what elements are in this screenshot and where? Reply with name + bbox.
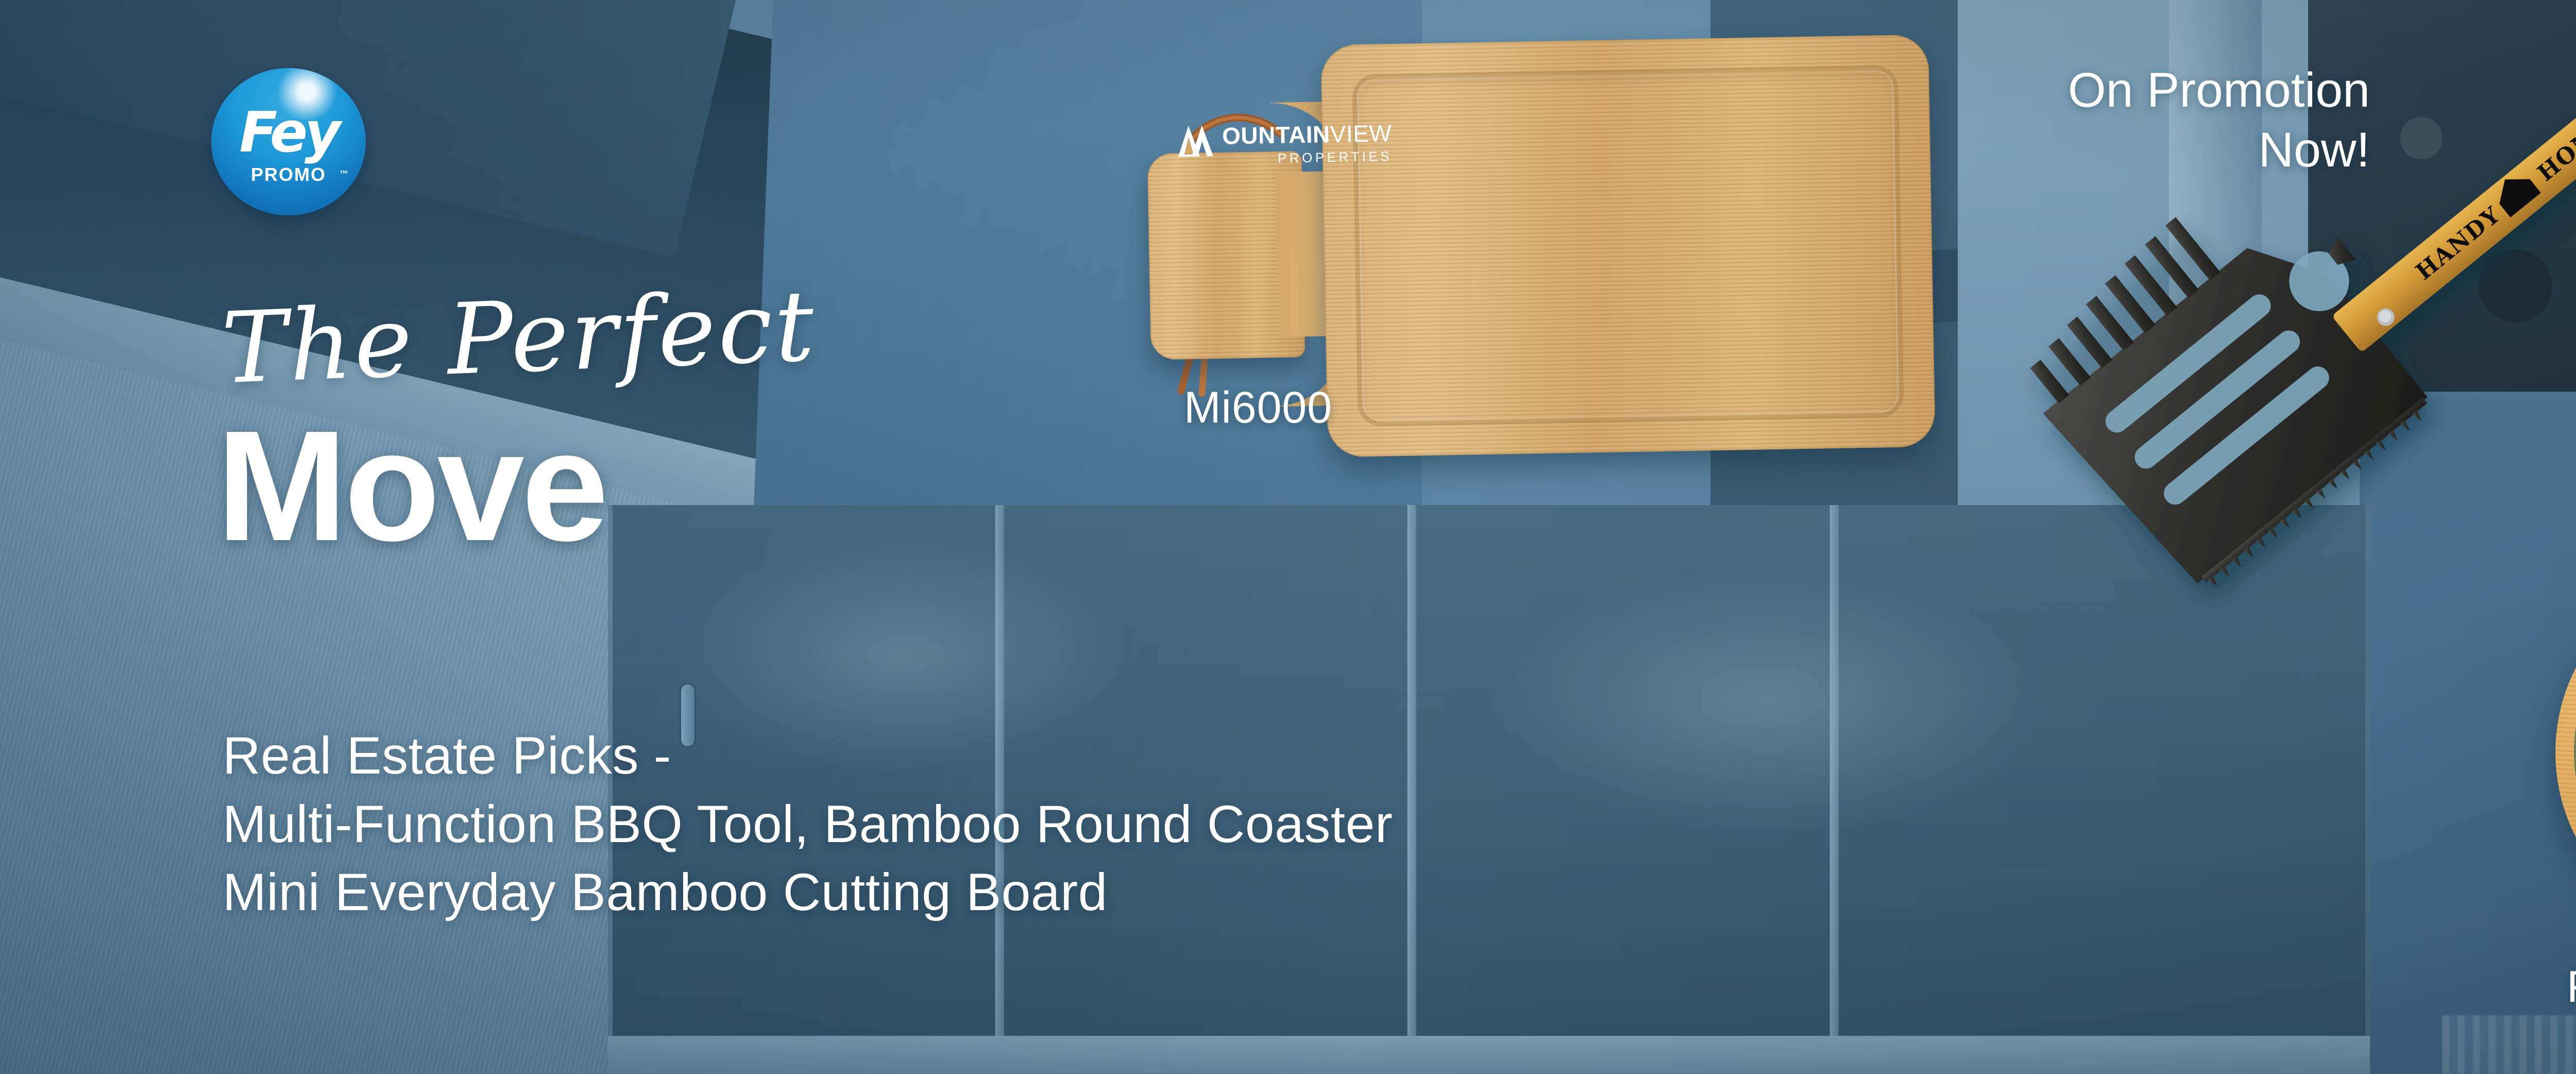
product-code-cutting-board: Mi6000 <box>1184 382 1332 433</box>
subheadline-line-2: Multi-Function BBQ Tool, Bamboo Round Co… <box>223 790 1393 859</box>
mountainview-tagline: PROPERTIES <box>1223 149 1393 166</box>
headline-main: Move <box>216 407 606 564</box>
mountainview-text: OUNTAINVIEW PROPERTIES <box>1222 121 1393 166</box>
promotional-banner: Fey PROMO ™ The Perfect Move Real Estate… <box>0 0 2576 1074</box>
logo-wordmark: Fey <box>211 107 366 158</box>
mountainview-name-bold: OUNTAIN <box>1222 121 1331 149</box>
subheadline-line-1: Real Estate Picks - <box>223 721 1393 790</box>
mountain-peak-icon <box>1178 124 1217 158</box>
product-code-coaster: F1450 <box>2567 962 2576 1013</box>
subheadline-block: Real Estate Picks - Multi-Function BBQ T… <box>223 721 1393 927</box>
mountainview-name-light: VIEW <box>1330 120 1392 147</box>
headline-script: The Perfect <box>220 277 818 398</box>
trademark-symbol: ™ <box>340 169 348 179</box>
product-bbq-tool: HANDY HOMES <box>1793 31 2576 804</box>
mountainview-name: OUNTAINVIEW <box>1222 121 1392 148</box>
product-round-coaster: MITCHELL GOLD <box>2555 567 2576 938</box>
bbq-tool-illustration: HANDY HOMES <box>1793 31 2576 804</box>
fey-promo-logo[interactable]: Fey PROMO ™ <box>211 68 366 215</box>
subheadline-line-3: Mini Everyday Bamboo Cutting Board <box>223 858 1393 927</box>
mountainview-imprint: OUNTAINVIEW PROPERTIES <box>1178 121 1393 166</box>
mitchell-gold-imprint: MITCHELL GOLD <box>2555 567 2576 938</box>
